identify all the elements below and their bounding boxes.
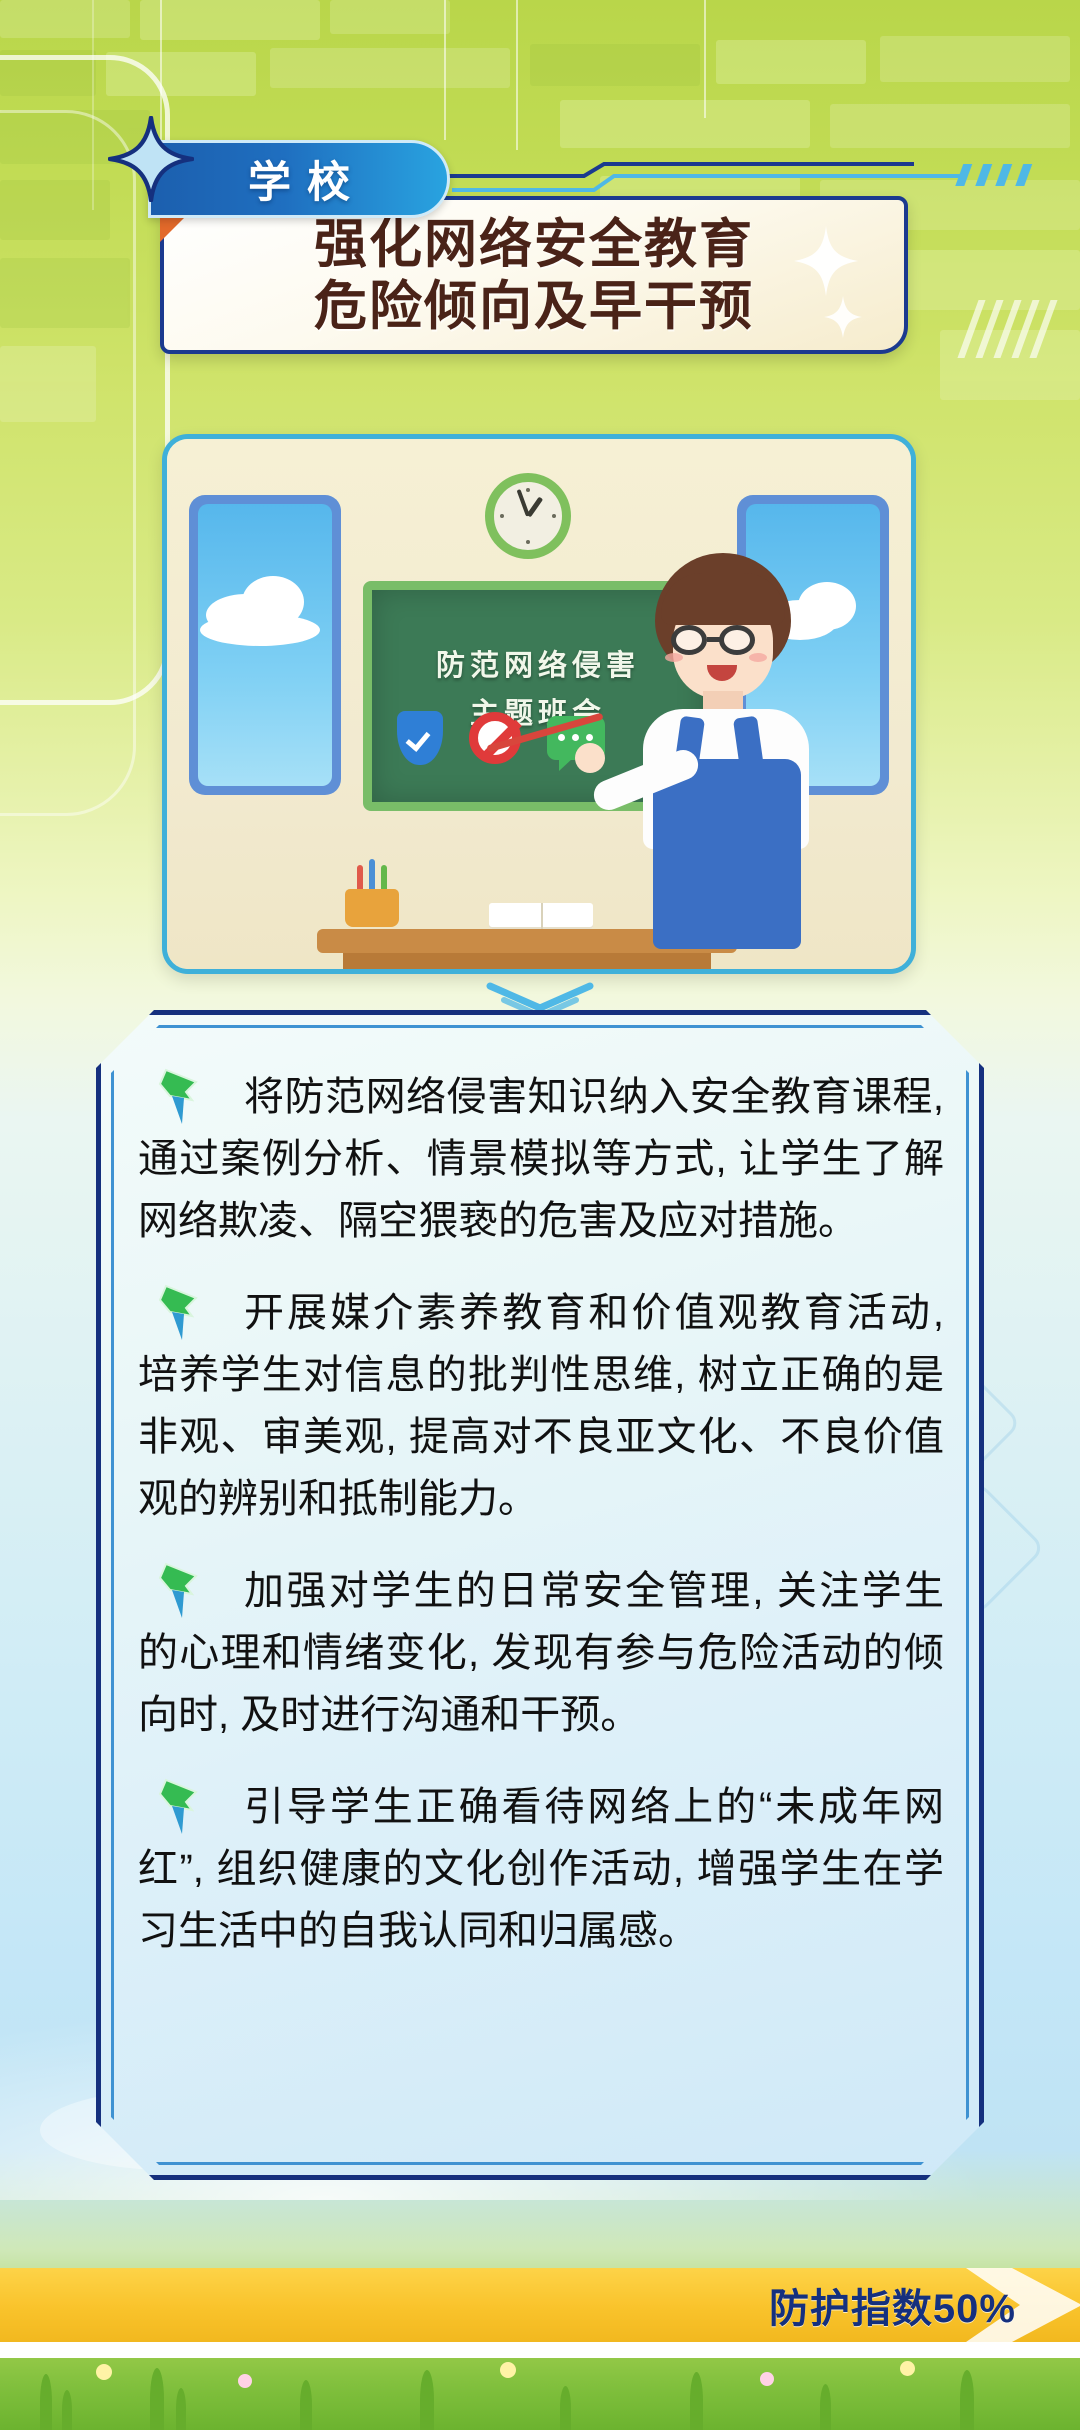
- green-pushpin-icon: [152, 1284, 206, 1342]
- security-icon-row: [397, 711, 605, 765]
- poster-root: 学校 强化网络安全教育 危险倾向及早干预: [0, 0, 1080, 2430]
- content-panel: 将防范网络侵害知识纳入安全教育课程, 通过案例分析、情景模拟等方式, 让学生了解…: [96, 1010, 984, 2180]
- title-line-1: 强化网络安全教育: [164, 214, 904, 276]
- list-item: 加强对学生的日常安全管理, 关注学生的心理和情绪变化, 发现有参与危险活动的倾向…: [138, 1560, 944, 1746]
- green-pushpin-icon: [152, 1778, 206, 1836]
- teacher-desk-front: [343, 953, 711, 974]
- background-frame: [0, 110, 136, 816]
- classroom-window-icon: [189, 495, 341, 795]
- paragraph-text: 引导学生正确看待网络上的“未成年网红”, 组织健康的文化创作活动, 增强学生在学…: [138, 1776, 944, 1962]
- background-tick-marks: [960, 300, 1080, 430]
- classroom-teacher-illustration: 防范网络侵害 主题班会: [162, 434, 916, 974]
- green-pushpin-icon: [152, 1068, 206, 1126]
- wall-clock-icon: [485, 473, 571, 559]
- green-pushpin-icon: [152, 1562, 206, 1620]
- title-card: 强化网络安全教育 危险倾向及早干预: [160, 196, 908, 354]
- shield-icon: [397, 711, 443, 765]
- teacher-avatar: [603, 553, 853, 953]
- sparkle-icon: [824, 296, 862, 338]
- background-hairline: [444, 0, 446, 140]
- status-badge: 防护指数50%: [769, 2268, 1016, 2342]
- section-badge-label: 学校: [232, 148, 366, 210]
- list-item: 引导学生正确看待网络上的“未成年网红”, 组织健康的文化创作活动, 增强学生在学…: [138, 1776, 944, 1962]
- pencil-cup-icon: [345, 873, 399, 927]
- title-line-2: 危险倾向及早干预: [164, 276, 904, 338]
- header-tech-line: [444, 162, 1064, 206]
- background-hairline: [516, 0, 518, 150]
- four-point-star-icon: [108, 116, 194, 202]
- list-item: 将防范网络侵害知识纳入安全教育课程, 通过案例分析、情景模拟等方式, 让学生了解…: [138, 1066, 944, 1252]
- paragraph-text: 将防范网络侵害知识纳入安全教育课程, 通过案例分析、情景模拟等方式, 让学生了解…: [138, 1066, 944, 1252]
- paragraph-list: 将防范网络侵害知识纳入安全教育课程, 通过案例分析、情景模拟等方式, 让学生了解…: [138, 1066, 944, 1992]
- paragraph-text: 加强对学生的日常安全管理, 关注学生的心理和情绪变化, 发现有参与危险活动的倾向…: [138, 1560, 944, 1746]
- page-title: 强化网络安全教育 危险倾向及早干预: [164, 214, 904, 338]
- footer-bar: 防护指数50%: [0, 2268, 1080, 2342]
- background-hairline: [704, 0, 706, 118]
- footer-divider: [0, 2342, 1080, 2358]
- sparkle-icon: [794, 226, 858, 296]
- paragraph-text: 开展媒介素养教育和价值观教育活动, 培养学生对信息的批判性思维, 树立正确的是非…: [138, 1282, 944, 1530]
- open-book-icon: [489, 903, 593, 929]
- list-item: 开展媒介素养教育和价值观教育活动, 培养学生对信息的批判性思维, 树立正确的是非…: [138, 1282, 944, 1530]
